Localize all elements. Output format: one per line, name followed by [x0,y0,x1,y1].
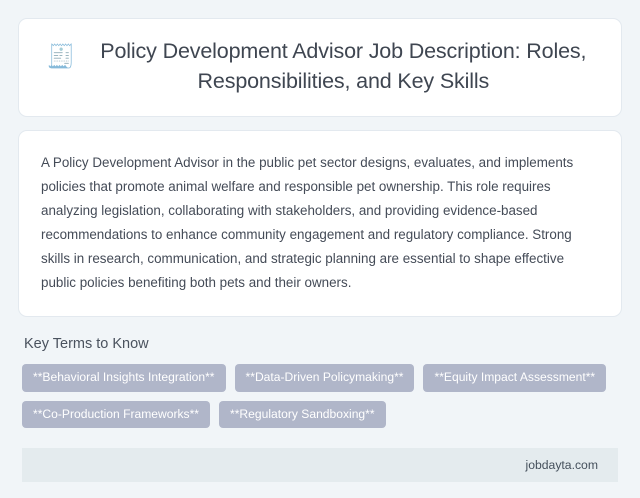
footer-site-label: jobdayta.com [526,458,599,472]
key-terms-section: Key Terms to Know **Behavioral Insights … [18,336,622,427]
page-title: Policy Development Advisor Job Descripti… [93,37,593,96]
receipt-document-icon: 🧾 [47,41,76,72]
key-term-tag[interactable]: **Behavioral Insights Integration** [22,364,226,391]
key-term-tag[interactable]: **Data-Driven Policymaking** [235,364,415,391]
key-term-tag[interactable]: **Co-Production Frameworks** [22,401,210,428]
title-card: 🧾 Policy Development Advisor Job Descrip… [18,18,622,117]
footer-bar: jobdayta.com [22,448,618,482]
key-term-tag[interactable]: **Regulatory Sandboxing** [219,401,386,428]
summary-card: A Policy Development Advisor in the publ… [18,130,622,317]
layout-spacer [18,428,622,448]
key-term-tag[interactable]: **Equity Impact Assessment** [423,364,606,391]
key-terms-list: **Behavioral Insights Integration** **Da… [22,364,618,427]
summary-paragraph: A Policy Development Advisor in the publ… [41,151,599,294]
key-terms-heading: Key Terms to Know [22,336,618,352]
page-root: 🧾 Policy Development Advisor Job Descrip… [0,0,640,498]
